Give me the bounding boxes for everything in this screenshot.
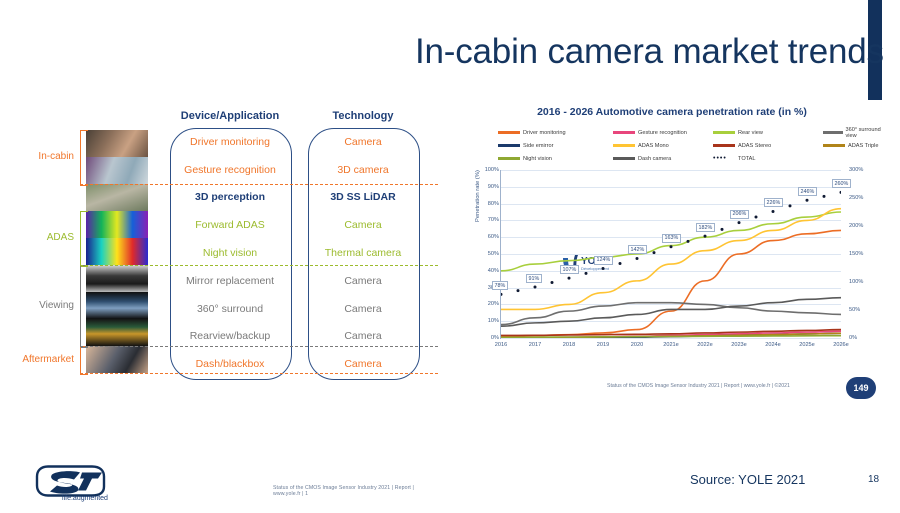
series-marker-total [534, 286, 537, 289]
legend-color-swatch-icon [613, 131, 635, 134]
legend-label: Rear view [738, 130, 763, 136]
y-axis-tick-label: 90% [471, 184, 499, 190]
legend-item[interactable]: Night vision [498, 156, 552, 162]
category-label: In-cabin [6, 151, 74, 162]
legend-row: Side emirrorADAS MonoADAS StereoADAS Tri… [498, 139, 888, 152]
category-bracket [80, 130, 88, 186]
category-bracket [80, 265, 88, 348]
data-label: 163% [662, 234, 681, 243]
legend-item[interactable]: ADAS Stereo [713, 143, 771, 149]
chart-footer-note: Status of the CMOS Image Sensor Industry… [607, 383, 790, 389]
x-axis-tick-label: 2021e [656, 342, 686, 348]
legend-color-swatch-icon [498, 157, 520, 160]
series-marker-total [653, 251, 656, 254]
device-technology-diagram: Device/Application Technology In-cabinAD… [18, 100, 438, 400]
night-vision-thermal-photo [86, 238, 148, 265]
technology-cell: Camera [308, 330, 418, 342]
device-cell: Rearview/backup [170, 330, 290, 342]
series-marker-total [636, 257, 639, 260]
series-marker-total [501, 293, 503, 296]
source-note: Source: YOLE 2021 [690, 472, 805, 487]
series-marker-total [670, 245, 673, 248]
secondary-y-axis-tick-label: 150% [849, 251, 863, 257]
legend-color-swatch-icon [713, 131, 735, 134]
technology-cell: Camera [308, 275, 418, 287]
technology-cell: 3D camera [308, 164, 418, 176]
series-marker-total [585, 272, 588, 275]
diagram-footer-note: Status of the CMOS Image Sensor Industry… [273, 485, 438, 497]
forward-adas-depthmap-photo [86, 211, 148, 238]
device-cell: Mirror replacement [170, 275, 290, 287]
x-axis-tick-label: 2022e [690, 342, 720, 348]
legend-row: Night visionDash camera••••TOTAL [498, 152, 888, 165]
data-label: 260% [832, 179, 851, 188]
technology-cell: Thermal camera [308, 247, 418, 259]
x-axis-tick-label: 2019 [588, 342, 618, 348]
slide-page-number: 18 [868, 474, 879, 485]
mirror-replacement-photo [86, 265, 148, 292]
rearview-backup-display-photo [86, 319, 148, 346]
legend-label: Driver monitoring [523, 130, 566, 136]
dashcam-photo [86, 346, 148, 373]
y-axis-tick-label: 10% [471, 318, 499, 324]
device-cell: Forward ADAS [170, 219, 290, 231]
y-axis-tick-label: 100% [471, 167, 499, 173]
legend-color-swatch-icon [823, 131, 843, 134]
legend-item[interactable]: Dash camera [613, 156, 671, 162]
legend-label: Night vision [523, 156, 552, 162]
legend-item[interactable]: Gesture recognition [613, 130, 687, 136]
chart-title: 2016 - 2026 Automotive camera penetratio… [462, 106, 882, 118]
y-axis-tick-label: 40% [471, 268, 499, 274]
series-marker-total [517, 289, 520, 292]
data-label: 107% [560, 265, 579, 274]
series-marker-total [704, 235, 707, 238]
y-axis-tick-label: 60% [471, 234, 499, 240]
legend-item[interactable]: ADAS Mono [613, 143, 669, 149]
x-axis-tick-label: 2020 [622, 342, 652, 348]
st-logo-caption: life.augmented [30, 495, 140, 502]
technology-cell: Camera [308, 136, 418, 148]
data-label: 226% [764, 198, 783, 207]
driver-monitoring-photo [86, 130, 148, 157]
legend-item[interactable]: Side emirror [498, 143, 553, 149]
device-cell: Gesture recognition [170, 164, 290, 176]
secondary-y-axis-tick-label: 0% [849, 335, 857, 341]
series-marker-total [568, 277, 571, 280]
legend-color-swatch-icon [613, 157, 635, 160]
slide-canvas: In-cabin camera market trends Device/App… [0, 0, 900, 513]
legend-label: ADAS Stereo [738, 143, 771, 149]
secondary-y-axis-tick-label: 200% [849, 223, 863, 229]
legend-item[interactable]: 360° surround view [823, 127, 888, 139]
legend-color-swatch-icon [613, 144, 635, 147]
legend-dotted-swatch-icon: •••• [713, 156, 735, 162]
penetration-rate-chart: 2016 - 2026 Automotive camera penetratio… [462, 100, 882, 400]
category-bracket [80, 211, 88, 267]
category-label: Viewing [6, 300, 74, 311]
legend-item[interactable]: ••••TOTAL [713, 156, 756, 162]
chart-legend: Driver monitoringGesture recognitionRear… [498, 126, 888, 165]
column-header-technology: Technology [308, 110, 418, 122]
secondary-y-axis-tick-label: 50% [849, 307, 860, 313]
legend-label: ADAS Mono [638, 143, 669, 149]
page-title: In-cabin camera market trends [415, 25, 860, 80]
x-axis-tick-label: 2023e [724, 342, 754, 348]
data-label: 206% [730, 210, 749, 219]
y-axis-tick-label: 50% [471, 251, 499, 257]
data-label: 246% [798, 187, 817, 196]
y-axis-tick-label: 0% [471, 335, 499, 341]
secondary-y-axis-tick-label: 100% [849, 279, 863, 285]
technology-cell: Camera [308, 303, 418, 315]
legend-label: ADAS Triple [848, 143, 878, 149]
column-header-device: Device/Application [170, 110, 290, 122]
y-axis-tick-label: 70% [471, 217, 499, 223]
series-marker-total [551, 281, 554, 284]
series-marker-total [738, 221, 741, 224]
legend-color-swatch-icon [498, 131, 520, 134]
grid-line [501, 338, 841, 339]
y-axis-title: Penetration rate (%) [475, 170, 481, 222]
data-label: 91% [526, 274, 542, 283]
category-label: ADAS [6, 232, 74, 243]
series-marker-total [823, 195, 826, 198]
secondary-y-axis-tick-label: 250% [849, 195, 863, 201]
device-cell: 3D perception [170, 191, 290, 203]
y-axis-tick-label: 80% [471, 201, 499, 207]
device-cell: 360° surround [170, 303, 290, 315]
device-cells: Driver monitoringGesture recognition3D p… [170, 128, 290, 378]
3d-perception-street-photo [86, 184, 148, 211]
chart-plot-area: Penetration rate (%) YOLE Développement … [500, 170, 841, 339]
report-page-badge: 149 [846, 377, 876, 399]
series-marker-total [840, 191, 842, 194]
x-axis-tick-label: 2025e [792, 342, 822, 348]
series-marker-total [755, 216, 758, 219]
x-axis-tick-label: 2018 [554, 342, 584, 348]
legend-label: Dash camera [638, 156, 671, 162]
legend-label: TOTAL [738, 156, 756, 162]
category-label: Aftermarket [6, 354, 74, 365]
legend-color-swatch-icon [823, 144, 845, 147]
legend-item[interactable]: Rear view [713, 130, 763, 136]
series-marker-total [619, 262, 622, 265]
gesture-recognition-photo [86, 157, 148, 184]
x-axis-tick-label: 2026e [826, 342, 856, 348]
category-bracket [80, 346, 88, 375]
surround-view-display-photo [86, 292, 148, 319]
device-cell: Driver monitoring [170, 136, 290, 148]
series-marker-total [806, 199, 809, 202]
series-marker-total [602, 267, 605, 270]
legend-label: Gesture recognition [638, 130, 687, 136]
legend-color-swatch-icon [498, 144, 520, 147]
series-marker-total [789, 204, 792, 207]
chart-series-canvas [501, 170, 841, 338]
series-marker-total [721, 228, 724, 231]
data-label: 78% [492, 281, 508, 290]
data-label: 124% [594, 256, 613, 265]
device-cell: Night vision [170, 247, 290, 259]
legend-label: 360° surround view [846, 127, 889, 139]
x-axis-tick-label: 2017 [520, 342, 550, 348]
legend-color-swatch-icon [713, 144, 735, 147]
legend-label: Side emirror [523, 143, 553, 149]
technology-cell: 3D SS LiDAR [308, 191, 418, 203]
secondary-y-axis-tick-label: 300% [849, 167, 863, 173]
y-axis-tick-label: 20% [471, 301, 499, 307]
data-label: 142% [628, 245, 647, 254]
legend-item[interactable]: ADAS Triple [823, 143, 878, 149]
legend-row: Driver monitoringGesture recognitionRear… [498, 126, 888, 139]
series-marker-total [772, 210, 775, 213]
series-marker-total [687, 240, 690, 243]
x-axis-tick-label: 2016 [486, 342, 516, 348]
thumbnail-strip [86, 130, 148, 373]
x-axis-tick-label: 2024e [758, 342, 788, 348]
device-cell: Dash/blackbox [170, 358, 290, 370]
technology-cells: Camera3D camera3D SS LiDARCameraThermal … [308, 128, 418, 378]
legend-item[interactable]: Driver monitoring [498, 130, 566, 136]
series-line [501, 209, 841, 310]
technology-cell: Camera [308, 219, 418, 231]
technology-cell: Camera [308, 358, 418, 370]
data-label: 182% [696, 223, 715, 232]
